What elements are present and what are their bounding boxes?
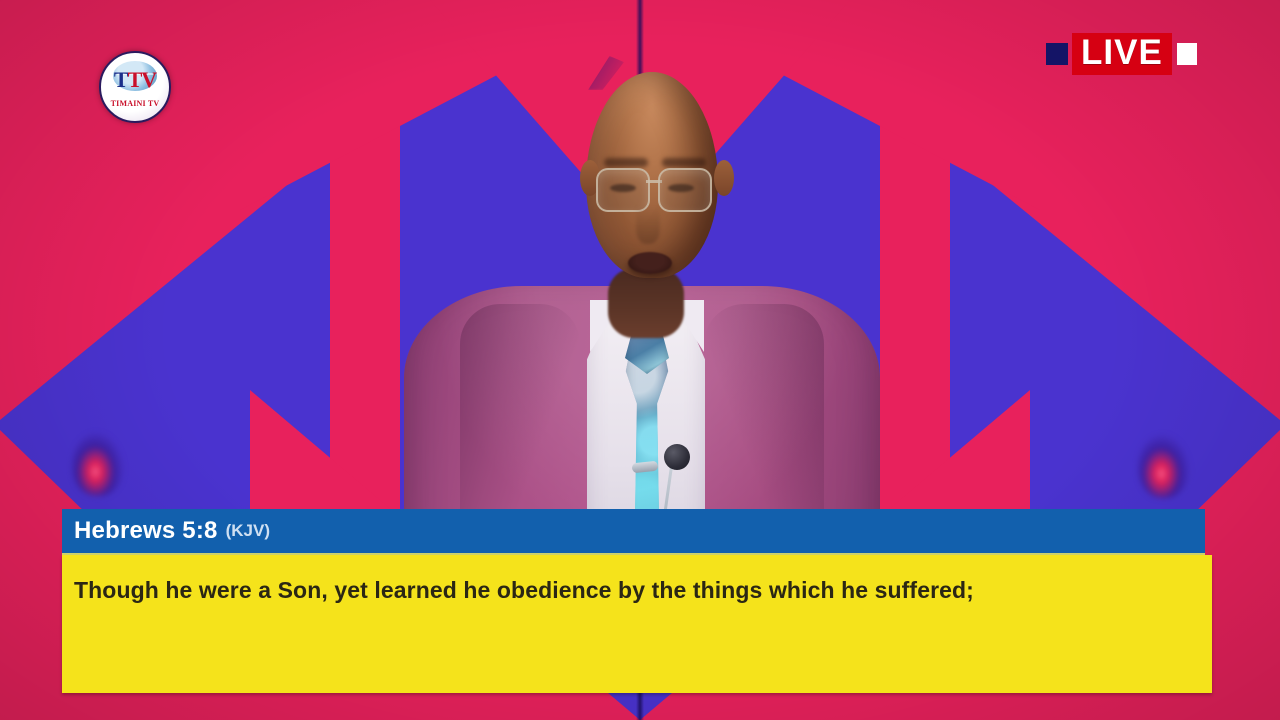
- scripture-body: Though he were a Son, yet learned he obe…: [62, 555, 1212, 693]
- logo-channel-name: TIMAINI TV: [101, 99, 169, 108]
- scripture-lower-third: Hebrews 5:8 (KJV) Though he were a Son, …: [62, 509, 1212, 693]
- live-label: LIVE: [1072, 33, 1172, 75]
- scripture-version: (KJV): [226, 521, 270, 541]
- live-status-badge: LIVE: [1046, 32, 1197, 76]
- scripture-reference: Hebrews 5:8: [74, 517, 218, 545]
- scripture-verse-text: Though he were a Son, yet learned he obe…: [74, 575, 1196, 605]
- broadcast-video-frame: TTV TIMAINI TV LIVE Hebrews 5:8 (KJV) Th…: [0, 0, 1280, 720]
- channel-logo: TTV TIMAINI TV: [99, 51, 171, 123]
- background-artifact: [588, 56, 624, 90]
- speaker-neck: [608, 268, 684, 338]
- lapel-microphone-icon: [664, 444, 690, 470]
- logo-monogram: TTV: [101, 69, 169, 91]
- logo-monogram-accent: TV: [128, 67, 157, 92]
- square-marker-icon: [1046, 43, 1068, 65]
- speaker-mouth: [628, 252, 672, 274]
- speaker-brow: [604, 158, 648, 167]
- eyeglass-lens: [658, 168, 712, 212]
- square-marker-icon: [1177, 43, 1197, 65]
- scripture-header: Hebrews 5:8 (KJV): [62, 509, 1205, 555]
- speaker-brow: [662, 158, 706, 167]
- speaker-ear: [714, 160, 734, 196]
- speaker-nose: [636, 206, 660, 244]
